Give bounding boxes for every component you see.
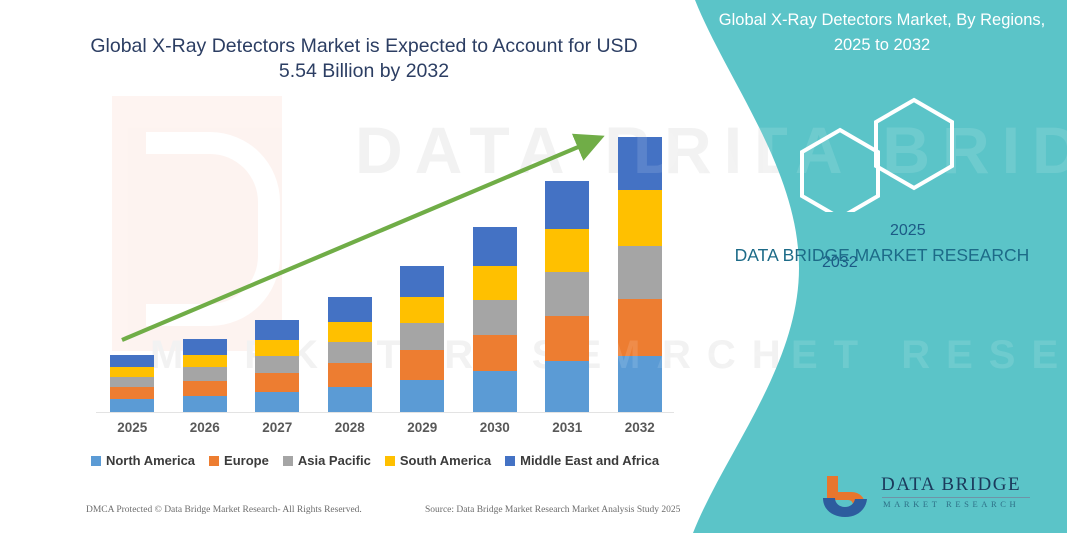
bar-column (96, 120, 168, 412)
footer-copyright: DMCA Protected © Data Bridge Market Rese… (86, 505, 362, 515)
legend-item[interactable]: Europe (209, 453, 269, 468)
bar-segment (545, 316, 589, 362)
bar-column (314, 120, 386, 412)
bar-segment (255, 392, 299, 412)
bar-segment (473, 335, 517, 372)
x-axis-labels: 20252026202720282029203020312032 (96, 420, 676, 446)
bar-segment (328, 297, 372, 322)
bar-segment (110, 367, 154, 376)
legend-label: Middle East and Africa (520, 453, 659, 468)
x-axis-line (96, 412, 674, 413)
bar-segment (400, 380, 444, 412)
stacked-bar (328, 297, 372, 412)
footer: DMCA Protected © Data Bridge Market Rese… (0, 505, 700, 527)
x-axis-label: 2028 (314, 420, 386, 446)
logo-divider (882, 497, 1030, 498)
data-bridge-logo-icon (819, 472, 871, 520)
bar-segment (328, 342, 372, 363)
legend-swatch (505, 456, 515, 466)
hex-label-start-year: 2025 (890, 222, 926, 240)
legend-label: South America (400, 453, 491, 468)
bar-column (241, 120, 313, 412)
bar-segment (110, 387, 154, 399)
chart-title: Global X-Ray Detectors Market is Expecte… (76, 34, 652, 84)
logo-tagline: MARKET RESEARCH (883, 499, 1019, 509)
bar-segment (400, 323, 444, 350)
x-axis-label: 2029 (386, 420, 458, 446)
legend-label: Asia Pacific (298, 453, 371, 468)
x-axis-label: 2031 (531, 420, 603, 446)
bar-segment (545, 272, 589, 316)
stacked-bar (400, 266, 444, 412)
logo-wordmark: DATA BRIDGE (881, 474, 1021, 496)
stacked-bar (255, 320, 299, 412)
bar-segment (328, 363, 372, 386)
stacked-bar (473, 227, 517, 412)
infographic-canvas: DATA BRIDGE MARKET RESEARCH Global X-Ray… (0, 0, 1067, 533)
bar-segment (110, 399, 154, 412)
bar-segment (255, 356, 299, 373)
bar-segment (183, 355, 227, 367)
bar-segment (618, 246, 662, 300)
stacked-bar (110, 355, 154, 412)
bar-segment (255, 320, 299, 340)
bar-segment (400, 350, 444, 379)
bar-segment (255, 340, 299, 356)
bar-segment (110, 355, 154, 367)
bar-segment (473, 266, 517, 300)
x-axis-label: 2026 (169, 420, 241, 446)
legend-label: North America (106, 453, 195, 468)
brand-panel: DATA BRIDGE MARKET RESEARCH Global X-Ray… (667, 0, 1067, 533)
x-axis-label: 2030 (459, 420, 531, 446)
footer-source: Source: Data Bridge Market Research Mark… (425, 505, 680, 515)
legend-swatch (283, 456, 293, 466)
bar-segment (400, 266, 444, 297)
bar-segment (183, 396, 227, 412)
bar-segment (473, 371, 517, 412)
company-logo: DATA BRIDGE MARKET RESEARCH (819, 468, 1049, 526)
brand-panel-title: Global X-Ray Detectors Market, By Region… (712, 8, 1052, 58)
legend-swatch (385, 456, 395, 466)
x-axis-label: 2027 (241, 420, 313, 446)
legend-item[interactable]: Middle East and Africa (505, 453, 659, 468)
legend-swatch (91, 456, 101, 466)
hexagon-outlines-icon (762, 92, 982, 212)
bar-column (386, 120, 458, 412)
bar-segment (328, 322, 372, 342)
hexagon-badges: 2025 2032 (762, 92, 982, 212)
bar-segment (545, 361, 589, 412)
bar-segment (618, 190, 662, 246)
bar-segment (545, 181, 589, 229)
bar-segment (400, 297, 444, 323)
bar-segment (110, 377, 154, 387)
legend-item[interactable]: South America (385, 453, 491, 468)
chart-panel: DATA BRIDGE MARKET RESEARCH Global X-Ray… (0, 0, 720, 533)
x-axis-label: 2025 (96, 420, 168, 446)
chart-legend: North AmericaEuropeAsia PacificSouth Ame… (60, 453, 690, 468)
bar-column (531, 120, 603, 412)
bar-segment (183, 367, 227, 380)
stacked-bar (545, 181, 589, 412)
bar-segment (183, 339, 227, 355)
stacked-bar-chart (96, 120, 676, 412)
brand-name: DATA BRIDGE MARKET RESEARCH (717, 242, 1047, 268)
bar-segment (255, 373, 299, 392)
bar-segment (328, 387, 372, 412)
bar-segment (183, 381, 227, 396)
bar-segment (545, 229, 589, 272)
legend-swatch (209, 456, 219, 466)
bar-segment (473, 227, 517, 266)
stacked-bar (183, 339, 227, 412)
x-axis-label: 2032 (604, 420, 676, 446)
legend-item[interactable]: Asia Pacific (283, 453, 371, 468)
bar-segment (473, 300, 517, 335)
bar-column (459, 120, 531, 412)
legend-label: Europe (224, 453, 269, 468)
brand-watermark-line2: MARKET RESEARCH (607, 333, 1067, 378)
legend-item[interactable]: North America (91, 453, 195, 468)
bar-column (169, 120, 241, 412)
